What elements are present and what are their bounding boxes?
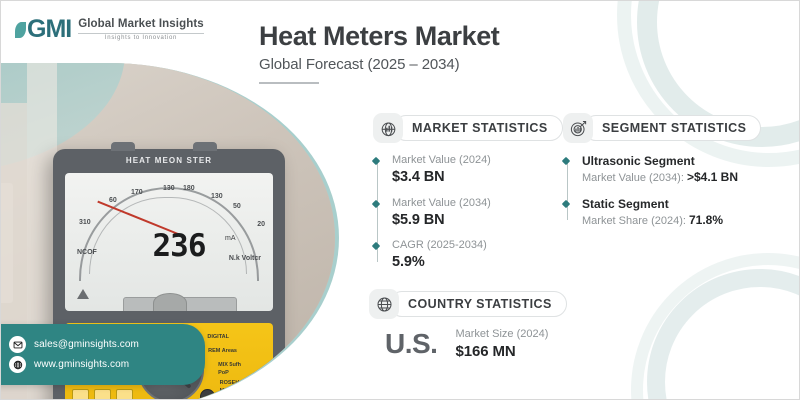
device-analog-screen: 310 60 170 130 180 130 50 20 236 mA NCOF…: [65, 173, 273, 311]
device-note-right: N.k Voltcr: [229, 255, 261, 262]
market-item-label: CAGR (2025-2034): [392, 238, 563, 253]
country-statistics-body: U.S. Market Size (2024) $166 MN: [369, 327, 567, 361]
probe-jack-blue[interactable]: [222, 389, 237, 400]
country-metric-value: $166 MN: [455, 342, 548, 362]
market-statistics-section: MARKET STATISTICS Market Value (2024) $3…: [373, 113, 563, 272]
decorative-arc-bottom-right-outer: [647, 269, 800, 400]
segment-statistics-item: Static Segment Market Share (2024): 71.8…: [582, 196, 761, 230]
page-subtitle: Global Forecast (2025 – 2034): [259, 56, 499, 73]
logo-divider: [78, 33, 204, 34]
scale-tick-7: 20: [257, 221, 265, 228]
device-display-unit: mA: [225, 235, 236, 242]
keypad-key-3[interactable]: [116, 389, 133, 400]
market-item-value: $5.9 BN: [392, 211, 563, 230]
scale-tick-0: 310: [79, 219, 91, 226]
gmi-logo-mark: GMI: [15, 17, 71, 42]
device-nub-left: [111, 142, 135, 151]
scale-tick-3: 130: [163, 185, 175, 192]
bullet-diamond-icon: [372, 157, 380, 165]
title-block: Heat Meters Market Global Forecast (2025…: [259, 21, 499, 84]
bullet-diamond-icon: [562, 157, 570, 165]
leaf-icon: [15, 22, 26, 38]
device-nub-right: [193, 142, 217, 151]
contact-email-row[interactable]: sales@gminsights.com: [9, 336, 195, 353]
segment-statistics-header: SEGMENT STATISTICS: [563, 113, 761, 143]
market-statistics-item: Market Value (2024) $3.4 BN: [392, 153, 563, 187]
probe-jack-red[interactable]: [244, 389, 259, 400]
logo-initials: GMI: [27, 17, 71, 42]
device-keypad[interactable]: [72, 389, 133, 400]
panel-text-right-1: DIGITAL: [207, 333, 229, 341]
infographic-canvas: HEAT MEON STER 310 60 170 130 180 130 50…: [0, 0, 800, 400]
photo-background-document: [0, 183, 13, 303]
bullet-diamond-icon: [372, 199, 380, 207]
globe-icon: [369, 289, 399, 319]
brand-logo[interactable]: GMI Global Market Insights Insights to I…: [15, 17, 204, 42]
country-metric: Market Size (2024) $166 MN: [455, 327, 548, 361]
market-statistics-item: Market Value (2034) $5.9 BN: [392, 196, 563, 230]
market-item-label: Market Value (2034): [392, 196, 563, 211]
globe-bar-chart-icon: [373, 113, 403, 143]
market-item-value: $3.4 BN: [392, 168, 563, 187]
segment-item-metric: Market Share (2024): 71.8%: [582, 212, 761, 230]
panel-text-right-3: MIX 5ufhPoP: [218, 361, 241, 378]
market-statistics-body: Market Value (2024) $3.4 BN Market Value…: [373, 153, 563, 272]
probe-jack-common[interactable]: [200, 389, 215, 400]
scale-tick-6: 50: [233, 203, 241, 210]
decorative-arc-bottom-right-inner: [631, 253, 800, 400]
scale-tick-4: 180: [183, 185, 195, 192]
country-statistics-section: COUNTRY STATISTICS U.S. Market Size (202…: [369, 289, 567, 361]
contact-email: sales@gminsights.com: [34, 339, 139, 350]
target-arrow-icon: [563, 113, 593, 143]
warning-triangle-icon: [77, 289, 89, 299]
envelope-icon: [9, 336, 26, 353]
segment-item-name: Ultrasonic Segment: [582, 153, 761, 169]
globe-icon: [9, 356, 26, 373]
market-statistics-header: MARKET STATISTICS: [373, 113, 563, 143]
country-statistics-title: COUNTRY STATISTICS: [389, 291, 567, 317]
country-statistics-header: COUNTRY STATISTICS: [369, 289, 567, 319]
segment-item-value: 71.8%: [689, 213, 723, 227]
segment-statistics-rail: [567, 159, 568, 220]
segment-item-label: Market Value (2034):: [582, 172, 684, 184]
scale-tick-2: 170: [131, 189, 143, 196]
title-underline: [259, 82, 319, 84]
market-statistics-item: CAGR (2025-2034) 5.9%: [392, 238, 563, 272]
logo-text-block: Global Market Insights Insights to Innov…: [78, 18, 204, 41]
contact-website: www.gminsights.com: [34, 359, 129, 370]
device-display-value: 236: [125, 229, 233, 263]
market-statistics-title: MARKET STATISTICS: [393, 115, 563, 141]
logo-tagline: Insights to Innovation: [78, 35, 204, 41]
market-item-value: 5.9%: [392, 253, 563, 272]
keypad-key-2[interactable]: [94, 389, 111, 400]
scale-tick-1: 60: [109, 197, 117, 204]
country-metric-label: Market Size (2024): [455, 327, 548, 342]
country-code: U.S.: [385, 328, 437, 360]
segment-statistics-body: Ultrasonic Segment Market Value (2034): …: [563, 153, 761, 230]
bullet-diamond-icon: [372, 242, 380, 250]
segment-item-name: Static Segment: [582, 196, 761, 212]
device-note-left: NCOF: [77, 249, 97, 256]
market-item-label: Market Value (2024): [392, 153, 563, 168]
segment-statistics-title: SEGMENT STATISTICS: [583, 115, 761, 141]
segment-item-metric: Market Value (2034): >$4.1 BN: [582, 169, 761, 187]
contact-bar: sales@gminsights.com www.gminsights.com: [0, 324, 205, 385]
bullet-diamond-icon: [562, 200, 570, 208]
meter-movement-hub: [153, 293, 187, 311]
segment-statistics-item: Ultrasonic Segment Market Value (2034): …: [582, 153, 761, 187]
segment-statistics-section: SEGMENT STATISTICS Ultrasonic Segment Ma…: [563, 113, 761, 230]
scale-tick-5: 130: [211, 193, 223, 200]
logo-company-name: Global Market Insights: [78, 18, 204, 31]
contact-website-row[interactable]: www.gminsights.com: [9, 356, 195, 373]
page-title: Heat Meters Market: [259, 21, 499, 51]
device-brand-label: HEAT MEON STER: [53, 156, 285, 165]
keypad-key-1[interactable]: [72, 389, 89, 400]
segment-item-value: >$4.1 BN: [687, 170, 738, 184]
segment-item-label: Market Share (2024):: [582, 215, 686, 227]
panel-text-right-2: REM Areas: [208, 347, 237, 355]
